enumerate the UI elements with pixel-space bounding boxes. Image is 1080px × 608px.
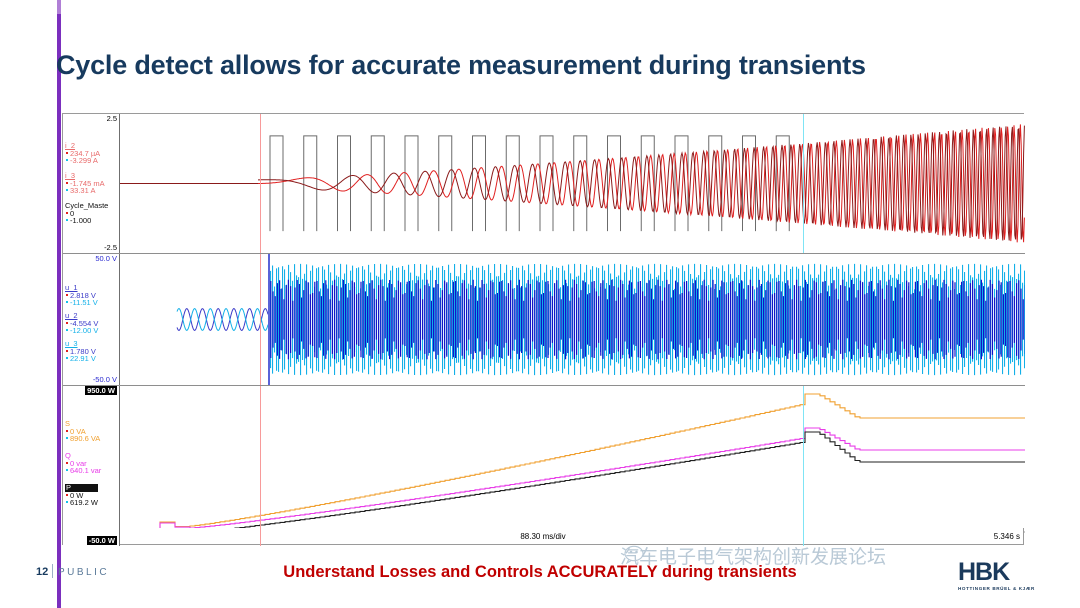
power-plot-area[interactable] xyxy=(120,386,1025,546)
current-bottom-scale: -2.5 xyxy=(104,244,117,252)
slide-caption: Understand Losses and Controls ACCURATEL… xyxy=(0,563,1080,582)
cursor-red-voltage[interactable] xyxy=(260,254,261,385)
signal-value-u3-b: 22.91 V xyxy=(65,355,96,363)
cursor-red-power[interactable] xyxy=(260,386,261,546)
marker-dot-cyan xyxy=(66,329,68,331)
marker-dot-cyan xyxy=(66,357,68,359)
hbk-logo: HBK HOTTINGER BRÜEL & KJÆR xyxy=(958,560,1070,594)
marker-dot-cyan xyxy=(66,437,68,439)
watermark-text: 汽车电子电气架构创新发展论坛 xyxy=(620,542,886,569)
slide-left-rail xyxy=(0,0,62,608)
signal-value-p-b: 619.2 W xyxy=(65,499,98,507)
marker-dot-red xyxy=(66,152,68,154)
marker-dot-cyan xyxy=(66,159,68,161)
current-waveform-svg xyxy=(120,114,1025,253)
signal-value-i3-b: 33.31 A xyxy=(65,187,105,195)
current-panel-legend[interactable]: 2.5 i_2 234.7 µA -3.299 A i_3 -1.745 mA … xyxy=(63,114,120,253)
marker-dot-red xyxy=(66,494,68,496)
marker-dot-red xyxy=(66,182,68,184)
signal-value-q-b: 640.1 var xyxy=(65,467,101,475)
cursor-red-current[interactable] xyxy=(260,114,261,253)
voltage-bottom-scale: -50.0 V xyxy=(93,376,117,384)
marker-dot-red xyxy=(66,322,68,324)
cursor-cyan-power[interactable] xyxy=(803,386,804,546)
voltage-top-scale: 50.0 V xyxy=(95,255,117,263)
time-axis-per-div: 88.30 ms/div xyxy=(520,532,565,541)
marker-dot-red xyxy=(66,430,68,432)
voltage-panel-legend[interactable]: 50.0 V u_1 2.818 V -11.51 V u_2 -4.554 V… xyxy=(63,254,120,385)
marker-dot-cyan xyxy=(66,189,68,191)
marker-dot-cyan xyxy=(66,501,68,503)
cursor-blue-voltage[interactable] xyxy=(268,254,270,385)
signal-value-s-b: 890.6 VA xyxy=(65,435,100,443)
signal-value-u1-b: -11.51 V xyxy=(65,299,98,307)
hbk-logo-text: HBK xyxy=(958,560,1070,585)
marker-dot-red xyxy=(66,294,68,296)
marker-dot-red xyxy=(66,350,68,352)
power-panel-legend[interactable]: 950.0 W S 0 VA 890.6 VA Q 0 var 640.1 va… xyxy=(63,386,120,546)
marker-dot-cyan xyxy=(66,219,68,221)
signal-value-cycle-b: -1.000 xyxy=(65,217,108,225)
current-top-scale: 2.5 xyxy=(107,115,117,123)
hbk-logo-tagline: HOTTINGER BRÜEL & KJÆR xyxy=(958,586,1070,591)
oscilloscope-window[interactable]: 2.5 i_2 234.7 µA -3.299 A i_3 -1.745 mA … xyxy=(62,113,1024,545)
signal-value-u2-b: -12.00 V xyxy=(65,327,98,335)
voltage-panel[interactable]: 50.0 V u_1 2.818 V -11.51 V u_2 -4.554 V… xyxy=(63,254,1025,386)
time-axis-end: 5.346 s xyxy=(994,532,1020,541)
marker-dot-red xyxy=(66,462,68,464)
rail-accent-bar xyxy=(57,0,61,608)
power-bottom-scale: -50.0 W xyxy=(87,537,117,545)
voltage-plot-area[interactable] xyxy=(120,254,1025,385)
power-top-scale: 950.0 W xyxy=(85,387,117,395)
voltage-waveform-svg xyxy=(120,254,1025,385)
marker-dot-cyan xyxy=(66,301,68,303)
cursor-cyan-current[interactable] xyxy=(803,114,804,253)
signal-value-i2-b: -3.299 A xyxy=(65,157,100,165)
power-waveform-svg xyxy=(120,386,1025,546)
current-plot-area[interactable] xyxy=(120,114,1025,253)
marker-dot-red xyxy=(66,212,68,214)
power-panel[interactable]: 950.0 W S 0 VA 890.6 VA Q 0 var 640.1 va… xyxy=(63,386,1025,546)
rail-accent-bar-light xyxy=(57,0,61,14)
current-panel[interactable]: 2.5 i_2 234.7 µA -3.299 A i_3 -1.745 mA … xyxy=(63,114,1025,254)
marker-dot-cyan xyxy=(66,469,68,471)
page-title: Cycle detect allows for accurate measure… xyxy=(56,50,866,81)
